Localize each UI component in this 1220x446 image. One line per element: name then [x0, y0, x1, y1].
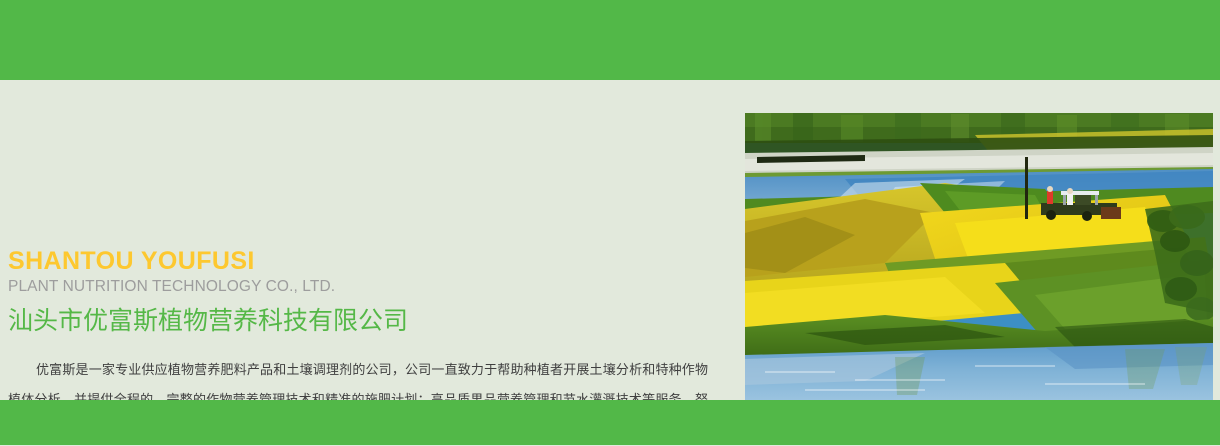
content-stage: SHANTOU YOUFUSI PLANT NUTRITION TECHNOLO…	[0, 80, 1220, 400]
header-green-band	[0, 0, 1220, 80]
brand-name-en: SHANTOU YOUFUSI	[8, 246, 728, 276]
brand-name-cn: 汕头市优富斯植物营养科技有限公司	[8, 304, 728, 338]
brand-block: SHANTOU YOUFUSI PLANT NUTRITION TECHNOLO…	[8, 246, 728, 338]
brand-subtitle-en: PLANT NUTRITION TECHNOLOGY CO., LTD.	[8, 276, 728, 298]
farmland-photo	[745, 113, 1213, 402]
footer-green-band	[0, 400, 1220, 445]
farmland-photo-illustration	[745, 113, 1213, 402]
